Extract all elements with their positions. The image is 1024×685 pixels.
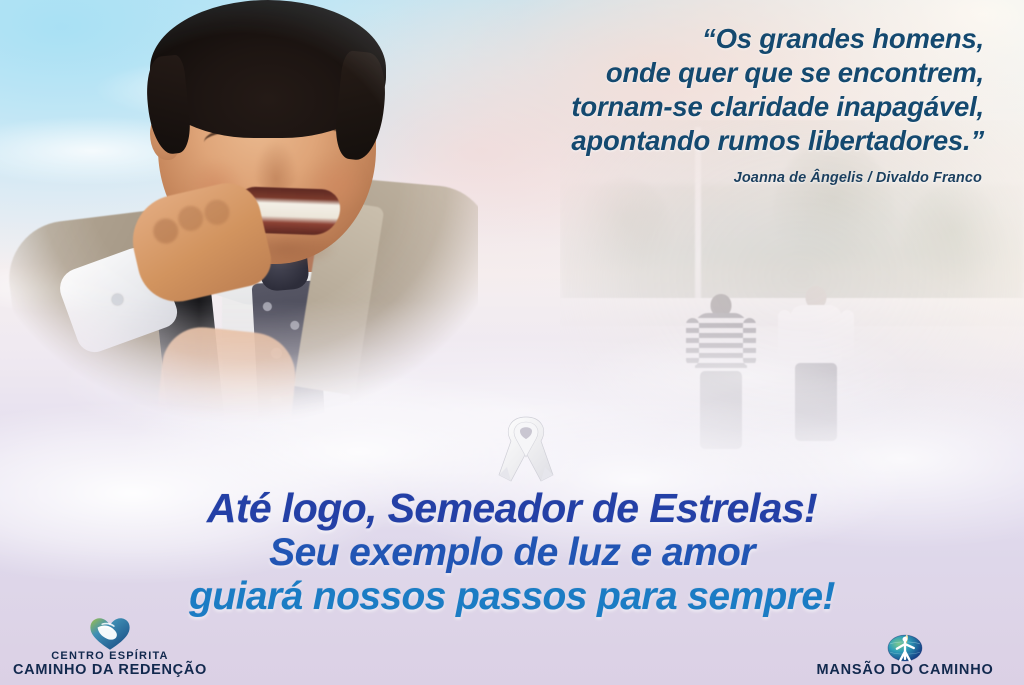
heart-hands-icon: [82, 617, 138, 651]
headline-message: Até logo, Semeador de Estrelas! Seu exem…: [0, 486, 1024, 619]
quote-attribution: Joanna de Ângelis / Divaldo Franco: [734, 170, 982, 186]
headline-line-3: guiará nossos passos para sempre!: [0, 575, 1024, 619]
white-ribbon-icon: [489, 409, 563, 489]
quote-text: “Os grandes homens, onde quer que se enc…: [424, 22, 984, 158]
memorial-poster: “Os grandes homens, onde quer que se enc…: [0, 0, 1024, 685]
quote-line-3: tornam-se claridade inapagável,: [424, 90, 984, 124]
quote-line-4: apontando rumos libertadores.”: [424, 124, 984, 158]
quote-line-1: “Os grandes homens,: [424, 22, 984, 56]
logo-left-line-2: CAMINHO DA REDENÇÃO: [13, 663, 207, 679]
portrait-hand-holding-microphone: [154, 323, 299, 452]
logo-mansao-do-caminho[interactable]: MANSÃO DO CAMINHO: [800, 629, 1010, 679]
logo-right-line-1: MANSÃO DO CAMINHO: [816, 663, 993, 679]
globe-figure-icon: [883, 629, 927, 663]
divaldo-franco-portrait: [8, 0, 478, 446]
quote-line-2: onde quer que se encontrem,: [424, 56, 984, 90]
logo-centro-espirita-caminho-da-redencao[interactable]: CENTRO ESPÍRITA CAMINHO DA REDENÇÃO: [10, 617, 210, 679]
logo-left-text: CENTRO ESPÍRITA CAMINHO DA REDENÇÃO: [13, 651, 207, 679]
portrait-hair-side: [332, 50, 389, 162]
logo-right-text: MANSÃO DO CAMINHO: [816, 663, 993, 679]
headline-line-2: Seu exemplo de luz e amor: [0, 531, 1024, 575]
headline-line-1: Até logo, Semeador de Estrelas!: [0, 486, 1024, 531]
portrait-cuff-button: [112, 294, 123, 305]
portrait-nose: [254, 140, 298, 190]
